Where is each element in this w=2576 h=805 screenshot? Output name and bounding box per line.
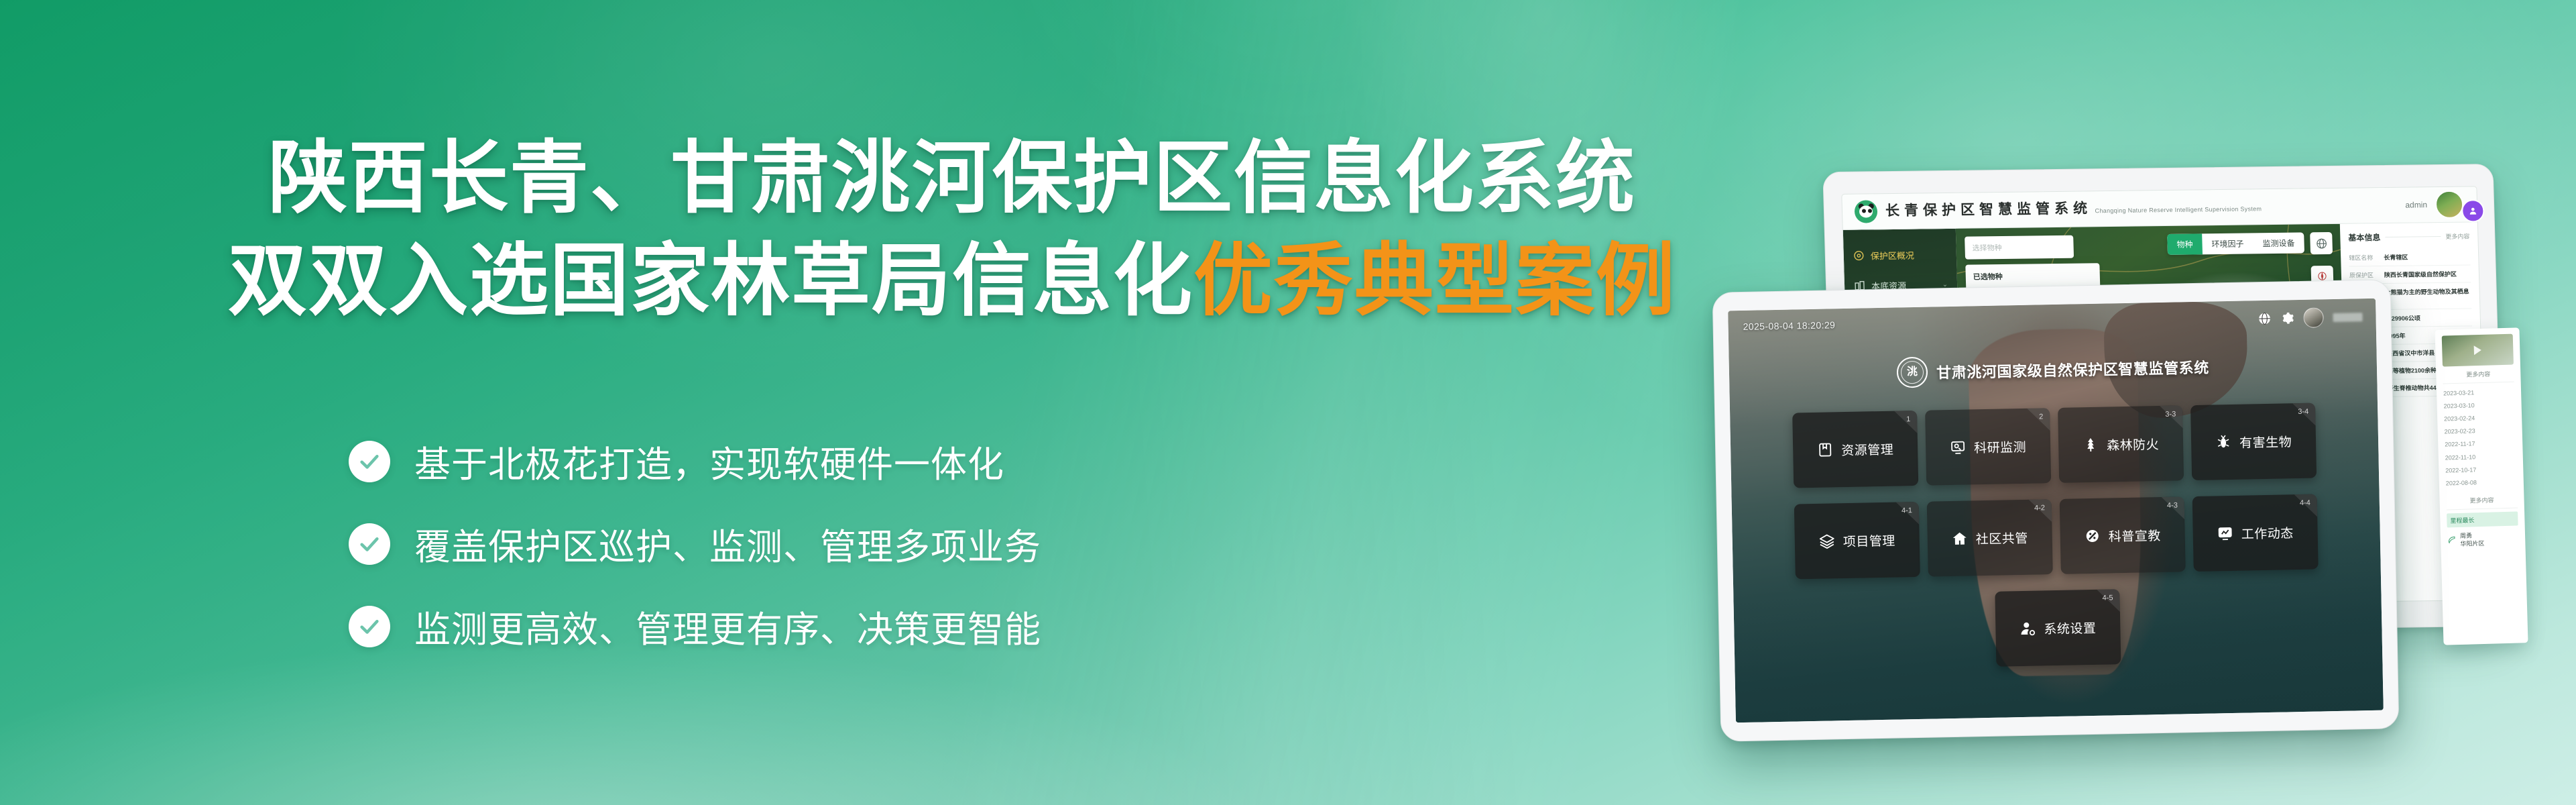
tile-system-settings[interactable]: 4-5 系统设置 — [1995, 589, 2121, 667]
tile-label: 项目管理 — [1843, 531, 1896, 549]
home-icon — [1952, 531, 1968, 547]
user-settings-icon — [2019, 621, 2036, 637]
info-key: 原保护区 — [2349, 270, 2384, 280]
education-icon — [2084, 528, 2100, 544]
tile-work-updates[interactable]: 4-4 工作动态 — [2192, 494, 2319, 572]
check-circle-icon — [349, 606, 390, 647]
tile-science-education[interactable]: 4-3 科普宣教 — [2060, 496, 2186, 574]
patroller-info: 周勇 华阳片区 — [2460, 531, 2485, 547]
gear-icon[interactable] — [2280, 311, 2294, 325]
tile-community-comanagement[interactable]: 4-2 社区共管 — [1927, 499, 2053, 577]
tile-label: 森林防火 — [2107, 435, 2160, 453]
patroller-row: 周勇 华阳片区 — [2447, 530, 2519, 548]
info-value: 陕西省汉中市洋县 — [2386, 348, 2435, 358]
tile-research-monitoring[interactable]: 2 科研监测 — [1925, 408, 2051, 486]
leaf-icon — [2447, 535, 2456, 544]
headline-line-2-main: 双双入选国家林草局信息化 — [228, 237, 1193, 325]
chart-monitor-icon — [2217, 525, 2233, 541]
tablet-menu-grid: 1 资源管理 2 科研监测 — [1730, 402, 2382, 672]
info-row: 辖区名称长青辖区 — [2349, 248, 2471, 266]
info-value: 大熊猫为主的野生动物及其栖息地 — [2384, 286, 2471, 305]
tile-number: 2 — [2039, 413, 2043, 421]
check-circle-icon — [349, 523, 390, 565]
avatar[interactable] — [2303, 307, 2324, 328]
tablet-screen: 2025-08-04 18:20:29 洮 甘肃洮河国家级自然保护区智 — [1728, 299, 2384, 722]
laptop-avatar[interactable] — [2435, 191, 2463, 219]
seal-glyph: 洮 — [1907, 367, 1918, 378]
pest-icon — [2215, 434, 2231, 450]
tile-number: 4-1 — [1901, 506, 1912, 515]
laptop-brand: 长青保护区智慧监管系统 Changqing Nature Reserve Int… — [1885, 199, 2262, 219]
tablet-device: 2025-08-04 18:20:29 洮 甘肃洮河国家级自然保护区智 — [1712, 279, 2400, 741]
panda-logo-icon — [1855, 200, 1878, 223]
tab-species[interactable]: 物种 — [2167, 233, 2203, 255]
feature-bullet-item: 基于北极花打造，实现软硬件一体化 — [349, 435, 1041, 488]
tablet-menu-row-1: 1 资源管理 2 科研监测 — [1792, 403, 2317, 488]
tile-resource-management[interactable]: 1 资源管理 — [1792, 411, 1918, 488]
forest-fire-icon — [2083, 437, 2099, 453]
tile-pest-organisms[interactable]: 3-4 有害生物 — [2190, 403, 2317, 481]
feature-bullet-item: 覆盖保护区巡护、监测、管理多项业务 — [349, 517, 1041, 570]
username-blurred — [2333, 313, 2362, 322]
tile-project-management[interactable]: 4-1 项目管理 — [1794, 502, 1920, 580]
divider — [2385, 236, 2441, 237]
map-layer-tabs: 物种 环境因子 监测设备 — [2167, 232, 2304, 254]
feature-bullet-text: 基于北极花打造，实现软硬件一体化 — [414, 435, 1004, 488]
tile-number: 4-5 — [2103, 594, 2113, 602]
laptop-brand-cn: 长青保护区智慧监管系统 — [1885, 201, 2093, 219]
panel-more-link-top[interactable]: 更多内容 — [2443, 365, 2514, 384]
date-list-item[interactable]: 2022-08-08 — [2446, 475, 2517, 490]
user-badge-icon[interactable] — [2461, 199, 2485, 222]
sidebar-item-overview[interactable]: 保护区概况 — [1843, 239, 1956, 271]
tablet-menu-row-2: 4-1 项目管理 4-2 社区共管 — [1794, 494, 2319, 580]
side-info-panel: 更多内容 2023-03-21 2023-03-10 2023-02-24 20… — [2435, 327, 2528, 645]
ranking-tag: 里程最长 — [2447, 511, 2518, 527]
info-value: 高等植物2100余种 — [2387, 366, 2437, 375]
patroller-name: 周勇 — [2460, 532, 2472, 539]
laptop-username: admin — [2405, 200, 2427, 209]
reserve-seal-icon: 洮 — [1897, 357, 1928, 388]
headline-line-1: 陕西长青、甘肃洮河保护区信息化系统 — [188, 127, 1716, 230]
tile-label: 科研监测 — [1974, 437, 2027, 455]
tile-label: 资源管理 — [1841, 439, 1894, 458]
tile-number: 4-4 — [2300, 499, 2310, 507]
info-value: 陕西长青国家级自然保护区 — [2384, 270, 2457, 279]
headline-line-2-accent: 优秀典型案例 — [1193, 237, 1676, 325]
tab-environment-factor[interactable]: 环境因子 — [2202, 233, 2253, 254]
tile-label: 有害生物 — [2239, 432, 2292, 451]
tab-monitoring-device[interactable]: 监测设备 — [2253, 232, 2304, 254]
info-value: 长青辖区 — [2384, 253, 2408, 262]
tablet-brand: 洮 甘肃洮河国家级自然保护区智慧监管系统 — [1729, 348, 2378, 392]
tile-forest-fire-prevention[interactable]: 3-3 森林防火 — [2058, 405, 2184, 483]
overview-icon — [1853, 250, 1865, 261]
research-monitor-icon — [1950, 439, 1966, 455]
sidebar-item-label: 保护区概况 — [1871, 249, 1915, 262]
promo-banner: 陕西长青、甘肃洮河保护区信息化系统 双双入选国家林草局信息化优秀典型案例 基于北… — [0, 0, 2576, 805]
info-panel-header: 基本信息 更多内容 — [2348, 230, 2469, 243]
feature-bullet-text: 覆盖保护区巡护、监测、管理多项业务 — [414, 517, 1041, 570]
headline-line-2: 双双入选国家林草局信息化优秀典型案例 — [188, 230, 1716, 333]
play-icon — [2474, 345, 2481, 355]
tile-label: 社区共管 — [1975, 528, 2028, 547]
tablet-brand-title: 甘肃洮河国家级自然保护区智慧监管系统 — [1936, 356, 2209, 383]
laptop-brand-en: Changqing Nature Reserve Intelligent Sup… — [2095, 205, 2262, 214]
check-circle-icon — [349, 441, 390, 482]
headline-block: 陕西长青、甘肃洮河保护区信息化系统 双双入选国家林草局信息化优秀典型案例 — [188, 127, 1716, 333]
tile-number: 1 — [1906, 415, 1910, 423]
date-list: 2023-03-21 2023-03-10 2023-02-24 2023-02… — [2443, 382, 2517, 492]
tile-number: 3-4 — [2298, 408, 2308, 416]
resource-book-icon — [1817, 441, 1833, 458]
tile-number: 4-3 — [2167, 502, 2178, 510]
tile-label: 工作动态 — [2241, 523, 2294, 542]
tile-number: 4-2 — [2034, 504, 2045, 512]
layers-icon — [1819, 533, 1835, 549]
info-more-link[interactable]: 更多内容 — [2445, 231, 2469, 240]
device-mockup-group: 更多内容 2023-03-21 2023-03-10 2023-02-24 20… — [1716, 134, 2576, 792]
feature-bullet-item: 监测更高效、管理更有序、决策更智能 — [349, 600, 1041, 653]
tablet-menu-row-3: 4-5 系统设置 — [1995, 589, 2121, 667]
species-select-input[interactable]: 选择物种 — [1965, 235, 2074, 260]
video-thumbnail[interactable] — [2442, 334, 2514, 367]
feature-bullet-text: 监测更高效、管理更有序、决策更智能 — [414, 600, 1041, 653]
info-key: 辖区名称 — [2349, 253, 2384, 262]
globe-icon[interactable] — [2258, 312, 2271, 325]
patroller-area: 华阳片区 — [2460, 540, 2484, 547]
info-panel-title: 基本信息 — [2348, 231, 2380, 244]
tile-label: 系统设置 — [2044, 618, 2097, 637]
tablet-top-icons — [2258, 307, 2363, 329]
globe-icon[interactable] — [2310, 232, 2333, 254]
selected-species-title: 已选物种 — [1973, 270, 2093, 282]
tile-label: 科普宣教 — [2108, 526, 2161, 545]
panel-more-link-bottom[interactable]: 更多内容 — [2446, 490, 2518, 510]
feature-bullet-list: 基于北极花打造，实现软硬件一体化 覆盖保护区巡护、监测、管理多项业务 监测更高效… — [349, 435, 1041, 682]
tablet-timestamp: 2025-08-04 18:20:29 — [1743, 319, 1835, 332]
tile-number: 3-3 — [2165, 411, 2176, 419]
